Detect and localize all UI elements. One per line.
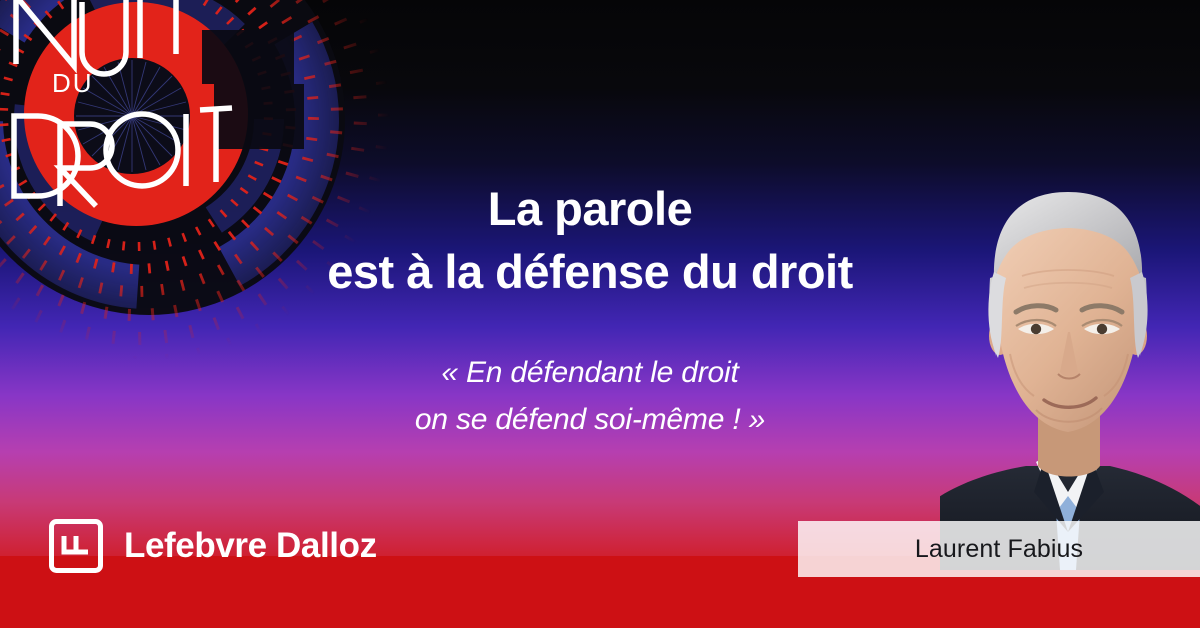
svg-text:DU: DU — [52, 68, 94, 98]
brand-lockup: Lefebvre Dalloz — [48, 518, 377, 574]
speaker-portrait — [940, 140, 1200, 570]
lefebvre-dalloz-mark-icon — [48, 518, 104, 574]
headline: La parole est à la défense du droit — [240, 178, 940, 303]
speaker-name-badge: Laurent Fabius — [798, 521, 1200, 577]
brand-wordmark: Lefebvre Dalloz — [124, 526, 377, 566]
speaker-name: Laurent Fabius — [915, 535, 1083, 564]
quote: « En défendant le droit on se défend soi… — [240, 350, 940, 443]
headline-line-1: La parole — [240, 178, 940, 241]
quote-line-1: « En défendant le droit — [240, 350, 940, 397]
event-banner: LA DU La parole est à la défens — [0, 0, 1200, 628]
quote-line-2: on se défend soi-même ! » — [240, 397, 940, 444]
headline-line-2: est à la défense du droit — [240, 241, 940, 304]
